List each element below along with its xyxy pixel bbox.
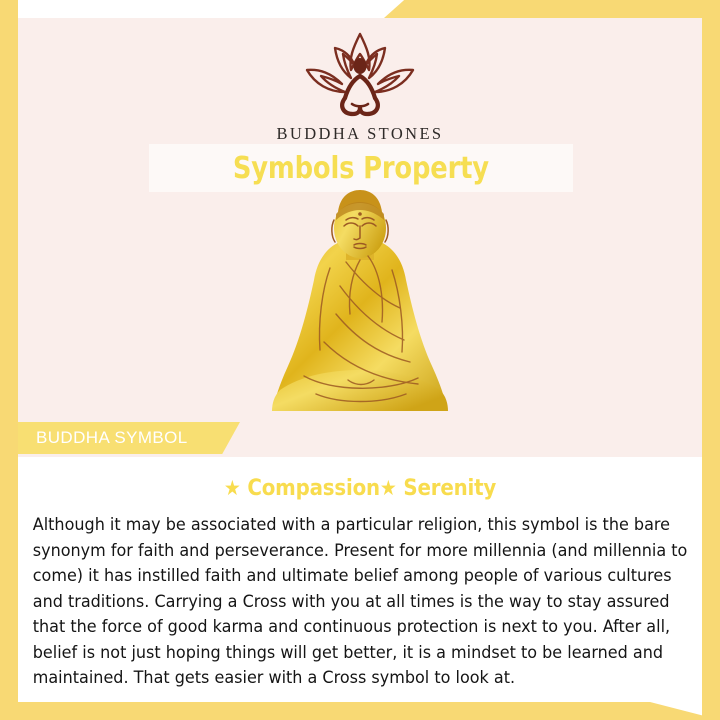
frame-top-bar (404, 0, 720, 18)
brand-logo: BUDDHA STONES (18, 28, 702, 144)
section-subtitle: ★ Compassion★ Serenity (59, 476, 660, 501)
buddha-illustration (18, 190, 702, 425)
subtitle-word-serenity: Serenity (397, 476, 496, 501)
frame-right-bar (702, 0, 720, 720)
infographic-root: BUDDHA STONES Symbols Property (0, 0, 720, 720)
star-icon-2: ★ (380, 476, 397, 500)
frame-left-bar (0, 0, 18, 720)
lotus-meditation-icon (285, 28, 435, 120)
symbol-tag-label: BUDDHA SYMBOL (18, 428, 188, 448)
page-card: BUDDHA STONES Symbols Property (18, 18, 702, 702)
page-title: Symbols Property (233, 151, 489, 186)
brand-name: BUDDHA STONES (18, 124, 702, 144)
hero-section: BUDDHA STONES Symbols Property (18, 18, 702, 457)
content-section: ★ Compassion★ Serenity Although it may b… (18, 457, 702, 702)
golden-seated-buddha-icon (260, 190, 460, 425)
symbol-tag: BUDDHA SYMBOL (18, 422, 240, 454)
title-banner: Symbols Property (149, 144, 573, 192)
body-paragraph: Although it may be associated with a par… (26, 512, 696, 691)
subtitle-word-compassion: Compassion (241, 476, 380, 501)
star-icon-1: ★ (224, 476, 241, 500)
